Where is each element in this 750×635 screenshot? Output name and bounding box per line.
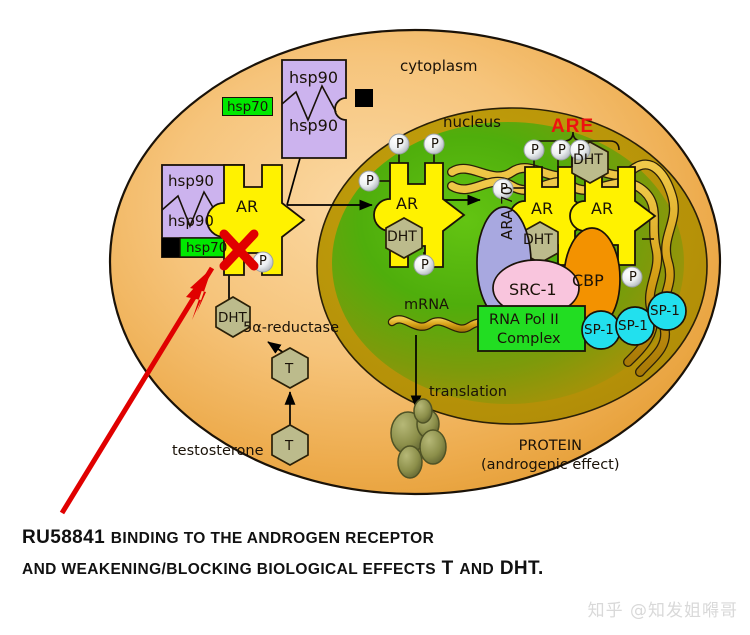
cytoplasm-label: cytoplasm — [400, 57, 478, 75]
black-square-marker — [355, 89, 373, 107]
p-label: P — [531, 143, 539, 158]
diagram-canvas: cytoplasm nucleus ARE 5α-reductase testo… — [0, 0, 750, 635]
caption-drug-name: RU58841 — [22, 527, 105, 548]
dht-cytoplasm-label: DHT — [218, 310, 247, 326]
nucleus-label: nucleus — [443, 113, 501, 131]
rna-pol-line2: Complex — [497, 331, 561, 347]
rna-pol-line1: RNA Pol II — [489, 312, 559, 328]
p-label: P — [577, 143, 585, 158]
caption-line-2-a: AND WEAKENING/BLOCKING BIOLOGICAL EFFECT… — [22, 561, 436, 578]
mrna-label: mRNA — [404, 297, 449, 313]
cbp-label: CBP — [572, 271, 604, 290]
ar-cytoplasm-label: AR — [236, 197, 258, 216]
src1-label: SRC-1 — [509, 280, 557, 299]
p-label: P — [421, 258, 429, 273]
ara70-label: ARA 70 — [498, 186, 516, 240]
hsp90-bottom-label: hsp90 — [289, 116, 338, 135]
hsp90-complex-top-label: hsp90 — [168, 172, 214, 190]
caption-line-2-dht: DHT. — [500, 558, 544, 579]
caption-line-2: AND WEAKENING/BLOCKING BIOLOGICAL EFFECT… — [22, 558, 544, 580]
dht-translocated-label: DHT — [387, 229, 417, 245]
sp1-label: SP-1 — [618, 318, 648, 334]
ar-translocated-label: AR — [396, 194, 418, 213]
p-label: P — [629, 270, 637, 285]
p-label: P — [431, 137, 439, 152]
t-inside-label: T — [285, 361, 293, 377]
are-label: ARE — [551, 116, 594, 138]
ar-dimer-left-label: AR — [531, 199, 553, 218]
caption-line-2-and: AND — [459, 561, 494, 578]
protein-label-line2: (androgenic effect) — [481, 456, 620, 475]
watermark: 知乎 @知发姐嘚哥 — [588, 596, 738, 621]
hsp70-complex-label: hsp70 — [186, 240, 227, 256]
t-outside-label: T — [285, 438, 293, 454]
ar-dimer-right-label: AR — [591, 199, 613, 218]
hsp90-complex-bottom-label: hsp90 — [168, 212, 214, 230]
hsp70-free-text: hsp70 — [227, 99, 268, 115]
protein-label: PROTEIN (androgenic effect) — [481, 437, 620, 475]
p-label: P — [259, 254, 267, 269]
hsp90-top-label: hsp90 — [289, 68, 338, 87]
p-label: P — [366, 174, 374, 189]
translation-label: translation — [429, 384, 507, 400]
caption-line-2-t: T — [442, 558, 454, 579]
caption-line-1: RU58841 BINDING TO THE ANDROGEN RECEPTOR — [22, 527, 434, 549]
p-label: P — [396, 137, 404, 152]
sp1-label: SP-1 — [650, 303, 680, 319]
sp1-label: SP-1 — [584, 322, 614, 338]
dht-dimer-left-label: DHT — [523, 232, 553, 248]
protein-label-line1: PROTEIN — [481, 437, 620, 456]
p-label: P — [558, 143, 566, 158]
testosterone-label: testosterone — [172, 443, 264, 459]
caption-line-1-rest: BINDING TO THE ANDROGEN RECEPTOR — [111, 530, 434, 547]
reductase-label: 5α-reductase — [243, 320, 339, 336]
